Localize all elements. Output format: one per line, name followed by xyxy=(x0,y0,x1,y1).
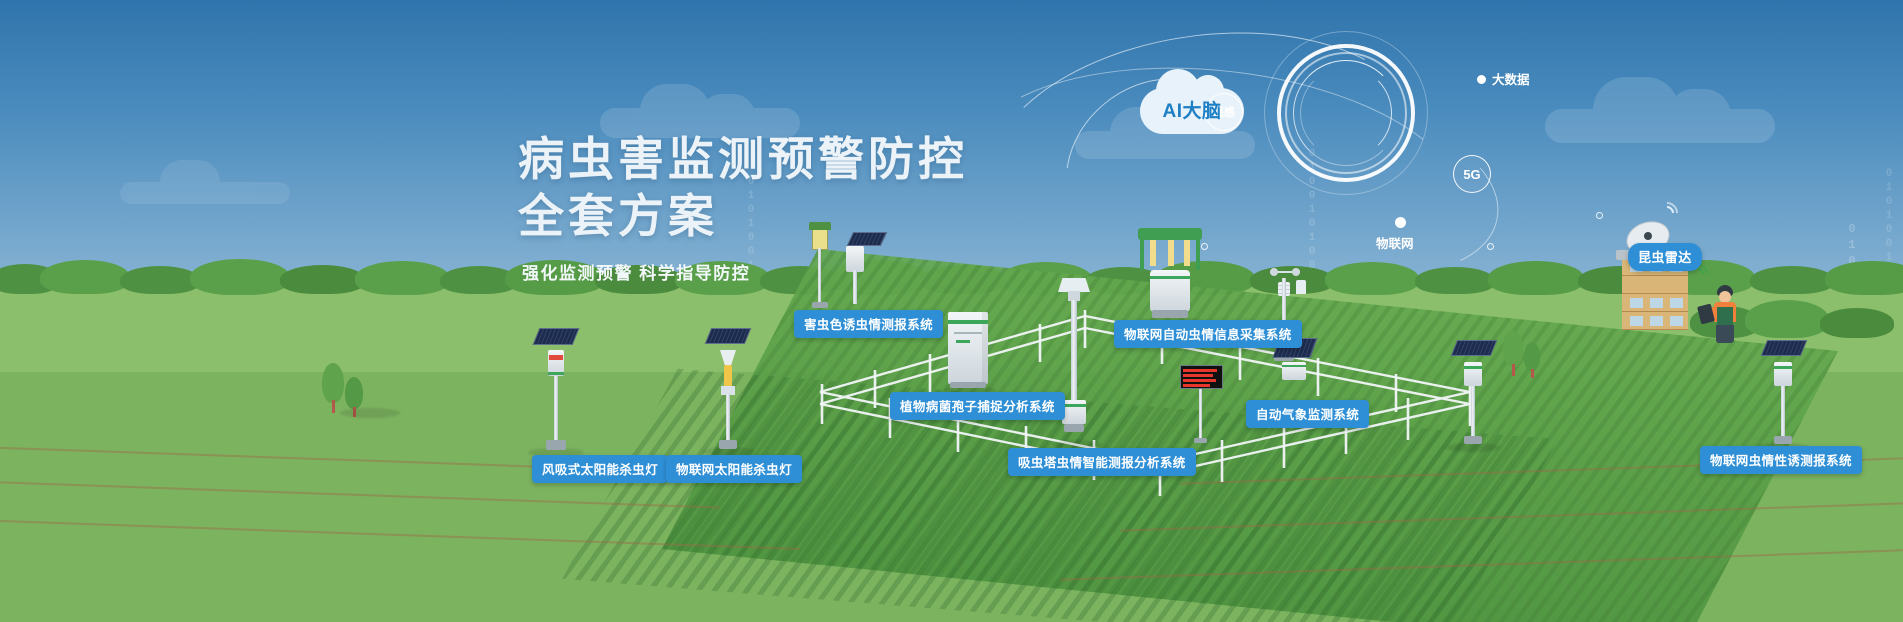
node-badge-5g[interactable]: 5G xyxy=(1453,155,1491,193)
solar-panel-icon xyxy=(1451,340,1497,356)
lamp-base xyxy=(719,440,737,449)
led-board-pole xyxy=(1199,388,1202,440)
solar-panel-icon xyxy=(1761,340,1807,356)
label-insect-radar[interactable]: 昆虫雷达 xyxy=(1628,243,1702,271)
trap-base xyxy=(1464,436,1482,444)
lamp-green-band xyxy=(548,372,564,375)
farmer-pants xyxy=(1716,325,1734,343)
collector-lamp-3 xyxy=(1184,240,1190,266)
tower-base xyxy=(1064,424,1084,432)
page-title-line2: 全套方案 xyxy=(518,188,968,245)
page-title-line1: 病虫害监测预警防控 xyxy=(518,131,968,188)
dish-receiver xyxy=(1644,232,1652,240)
ai-ring-halo xyxy=(1264,31,1428,195)
lamp-base xyxy=(546,440,566,450)
label-iot-solar-insect-lamp[interactable]: 物联网太阳能杀虫灯 xyxy=(666,455,802,483)
device-pole-2 xyxy=(853,270,857,304)
collector-band xyxy=(1150,276,1190,279)
collector-frame-l xyxy=(1140,240,1144,270)
cabinet-green-band xyxy=(948,320,988,324)
trap-band xyxy=(1774,366,1792,369)
led-display-board[interactable] xyxy=(1180,365,1223,389)
trap-band xyxy=(1464,366,1482,369)
building-window xyxy=(1630,316,1643,326)
label-auto-weather-monitoring[interactable]: 自动气象监测系统 xyxy=(1246,400,1369,428)
collector-roof xyxy=(1138,228,1202,240)
farmer-apron xyxy=(1717,307,1733,327)
label-suction-tower-analysis[interactable]: 吸虫塔虫情智能测报分析系统 xyxy=(1008,448,1196,476)
cabinet-logo xyxy=(956,340,970,343)
solar-panel-icon xyxy=(705,328,751,344)
collector-frame-r xyxy=(1196,240,1200,270)
device-iot-pheromone-forecast[interactable] xyxy=(1450,340,1498,448)
tree-right-2 xyxy=(1524,342,1540,378)
lure-color-plate xyxy=(812,228,828,250)
device-iot-auto-pest-collection[interactable] xyxy=(1138,228,1208,324)
lamp-pole xyxy=(554,376,558,442)
collector-lamp-1 xyxy=(1150,240,1156,266)
device-color-lure-forecast[interactable] xyxy=(806,222,884,308)
solar-panel-icon xyxy=(533,328,580,345)
control-box-band xyxy=(1282,365,1306,367)
building-window xyxy=(1670,316,1683,326)
orbit-endpoint-far-right xyxy=(1596,212,1603,219)
device-wind-suction-solar-lamp[interactable] xyxy=(532,328,578,452)
lamp-pole xyxy=(726,394,730,442)
label-color-lure-forecast[interactable]: 害虫色诱虫情测报系统 xyxy=(794,310,943,338)
tree-right-1 xyxy=(1503,330,1523,376)
tower-head xyxy=(1058,278,1090,292)
tree-left-1 xyxy=(322,363,344,413)
page-subtitle: 强化监测预警 科学指导防控 xyxy=(522,259,968,284)
collector-base xyxy=(1152,310,1188,318)
device-iot-solar-insect-lamp[interactable] xyxy=(706,328,750,450)
cloud-decor-3 xyxy=(1545,75,1775,143)
cabinet-base xyxy=(950,382,986,388)
title-block: 病虫害监测预警防控 全套方案 强化监测预警 科学指导防控 xyxy=(518,131,968,284)
label-iot-pheromone-forecast[interactable]: 物联网虫情性诱测报系统 xyxy=(1700,446,1862,474)
device-iot-pheromone-forecast-right[interactable] xyxy=(1760,340,1808,448)
ai-brain-label: AI大脑 xyxy=(1140,96,1244,123)
node-dot-iot[interactable] xyxy=(1395,217,1406,228)
device-spore-capture-analysis[interactable] xyxy=(948,312,992,392)
lure-cabinet xyxy=(846,246,864,272)
node-label-5g: 5G xyxy=(1463,167,1480,182)
building-window xyxy=(1650,316,1663,326)
building-floor-2 xyxy=(1622,276,1688,294)
device-base xyxy=(812,302,828,308)
cloud-decor-4 xyxy=(120,160,290,204)
cabinet-vent xyxy=(954,332,982,334)
label-spore-capture-analysis[interactable]: 植物病菌孢子捕捉分析系统 xyxy=(890,392,1065,420)
lure-hood xyxy=(809,222,831,230)
trap-pole xyxy=(1781,386,1785,438)
lamp-tube xyxy=(724,365,732,387)
trap-pole xyxy=(1471,386,1475,438)
anemometer-icon xyxy=(1270,268,1300,278)
collector-lamp-2 xyxy=(1168,240,1174,266)
node-label-bigdata: 大数据 xyxy=(1492,69,1530,88)
trap-base xyxy=(1774,436,1792,444)
device-pole xyxy=(818,248,821,304)
building-window xyxy=(1670,298,1683,308)
node-dot-bigdata[interactable] xyxy=(1477,75,1486,84)
led-board-base xyxy=(1194,438,1207,443)
label-wind-suction-solar-lamp[interactable]: 风吸式太阳能杀虫灯 xyxy=(532,455,668,483)
device-suction-tower-analysis[interactable] xyxy=(1058,278,1094,446)
crop-texture-foreground xyxy=(0,430,1903,622)
pest-monitoring-banner: 010100110101 01001010011 0101001101001 0… xyxy=(0,0,1903,622)
label-iot-auto-pest-collection[interactable]: 物联网自动虫情信息采集系统 xyxy=(1114,320,1302,348)
building-window xyxy=(1650,298,1663,308)
lamp-indicator xyxy=(549,355,563,360)
lamp-funnel xyxy=(720,350,736,366)
orbit-endpoint-right xyxy=(1487,243,1494,250)
tower-box-band xyxy=(1062,404,1086,407)
building-window xyxy=(1630,298,1643,308)
rain-gauge-icon xyxy=(1296,280,1306,294)
tree-shadow-left xyxy=(340,408,400,418)
node-label-iot: 物联网 xyxy=(1376,233,1414,252)
farmer-figure xyxy=(1705,285,1745,345)
solar-panel-icon xyxy=(847,232,888,246)
